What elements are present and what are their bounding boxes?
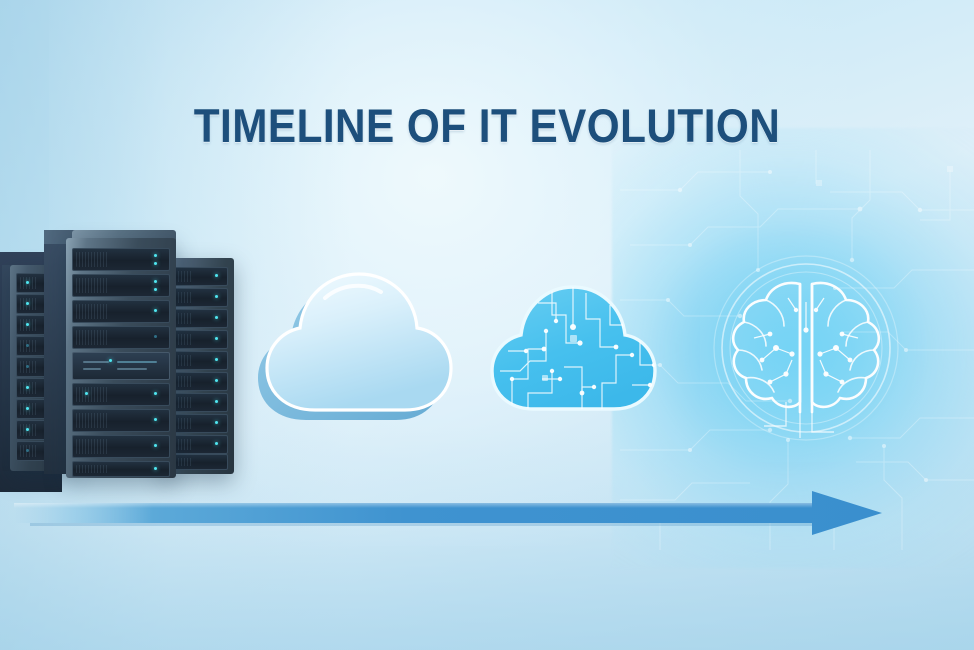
stage-cloud-circuit [482,275,674,425]
cloud-icon [255,262,470,427]
stage-ai-brain [700,242,912,454]
timeline-arrow [0,480,974,550]
ai-brain-icon [700,242,912,454]
stage-cloud [255,262,470,427]
page-title: TIMELINE OF IT EVOLUTION [49,98,926,154]
stage-servers [0,222,260,482]
illustration-canvas: TIMELINE OF IT EVOLUTION [0,0,974,650]
cloud-circuit-icon [482,275,674,425]
server-control-panel [72,352,170,380]
